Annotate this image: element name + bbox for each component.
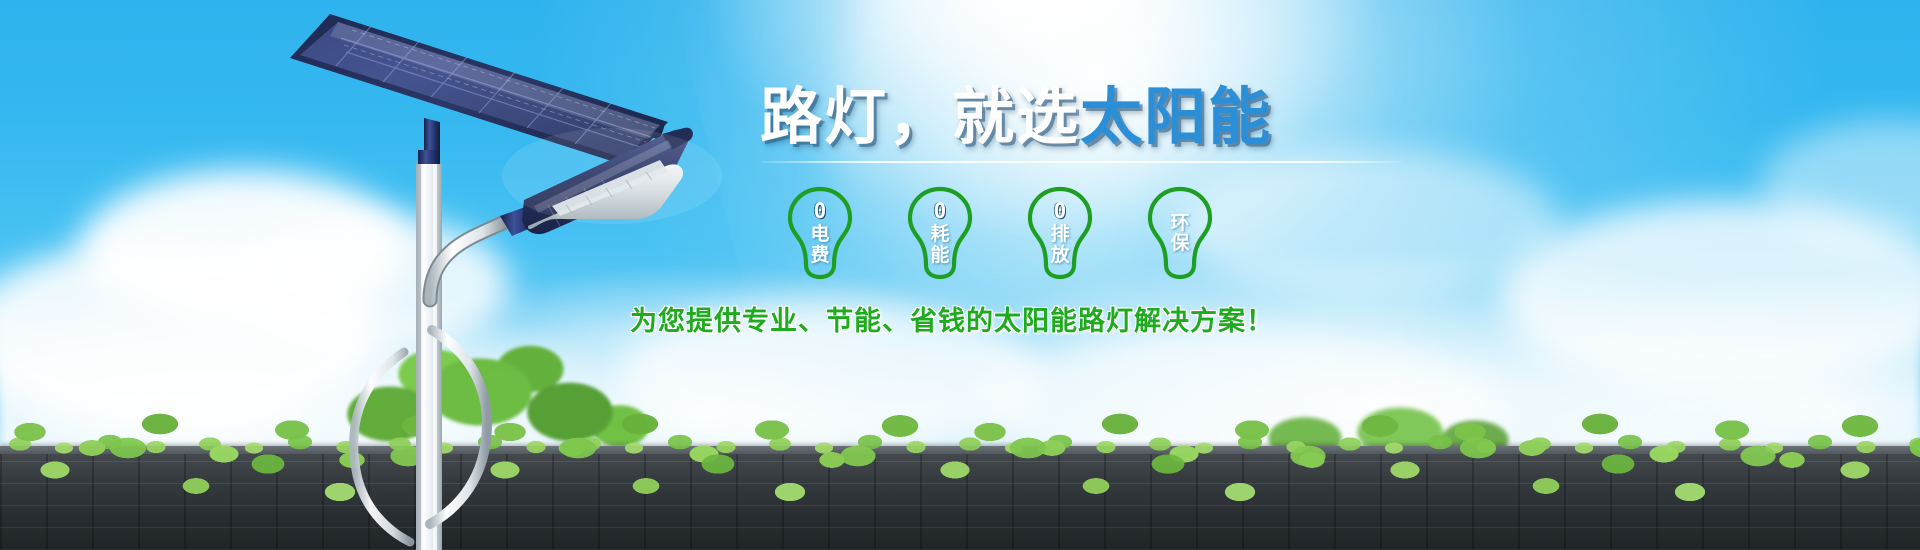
feature-badge-1-haoneng[interactable]: 0 耗 能 — [902, 185, 978, 281]
feature-badge-label-line1: 环 — [1170, 213, 1189, 233]
feature-badge-label-line2: 费 — [810, 245, 829, 265]
feature-badge-label-line1: 电 — [810, 224, 829, 244]
ivy-vines-front — [0, 430, 1920, 526]
headline-blue-part: 太阳能 — [1080, 80, 1272, 153]
feature-badge-2-paifang[interactable]: 0 排 放 — [1022, 185, 1098, 281]
feature-badge-zero: 0 — [934, 201, 947, 222]
feature-badge-0-dianfei[interactable]: 0 电 费 — [782, 185, 858, 281]
feature-badge-label-line2: 能 — [930, 245, 949, 265]
feature-badge-label-line1: 耗 — [930, 224, 949, 244]
feature-badge-label-line1: 排 — [1050, 224, 1069, 244]
title-divider — [762, 161, 1402, 163]
feature-badge-zero: 0 — [814, 201, 827, 222]
feature-badge-label-line2: 保 — [1170, 233, 1189, 253]
banner-subtitle: 为您提供专业、节能、省钱的太阳能路灯解决方案！ — [630, 299, 1440, 338]
hero-banner: 路灯，就选太阳能 0 电 费 0 耗 能 — [0, 0, 1920, 550]
page-title: 路灯，就选太阳能 — [760, 84, 1440, 149]
feature-badge-list: 0 电 费 0 耗 能 0 排 放 — [782, 185, 1440, 281]
feature-badge-zero: 0 — [1054, 201, 1067, 222]
feature-badge-3-huanbao[interactable]: 环 保 — [1142, 185, 1218, 281]
feature-badge-label-line2: 放 — [1050, 245, 1069, 265]
banner-copy: 路灯，就选太阳能 0 电 费 0 耗 能 — [760, 84, 1440, 338]
headline-white-part: 路灯，就选 — [760, 80, 1080, 153]
